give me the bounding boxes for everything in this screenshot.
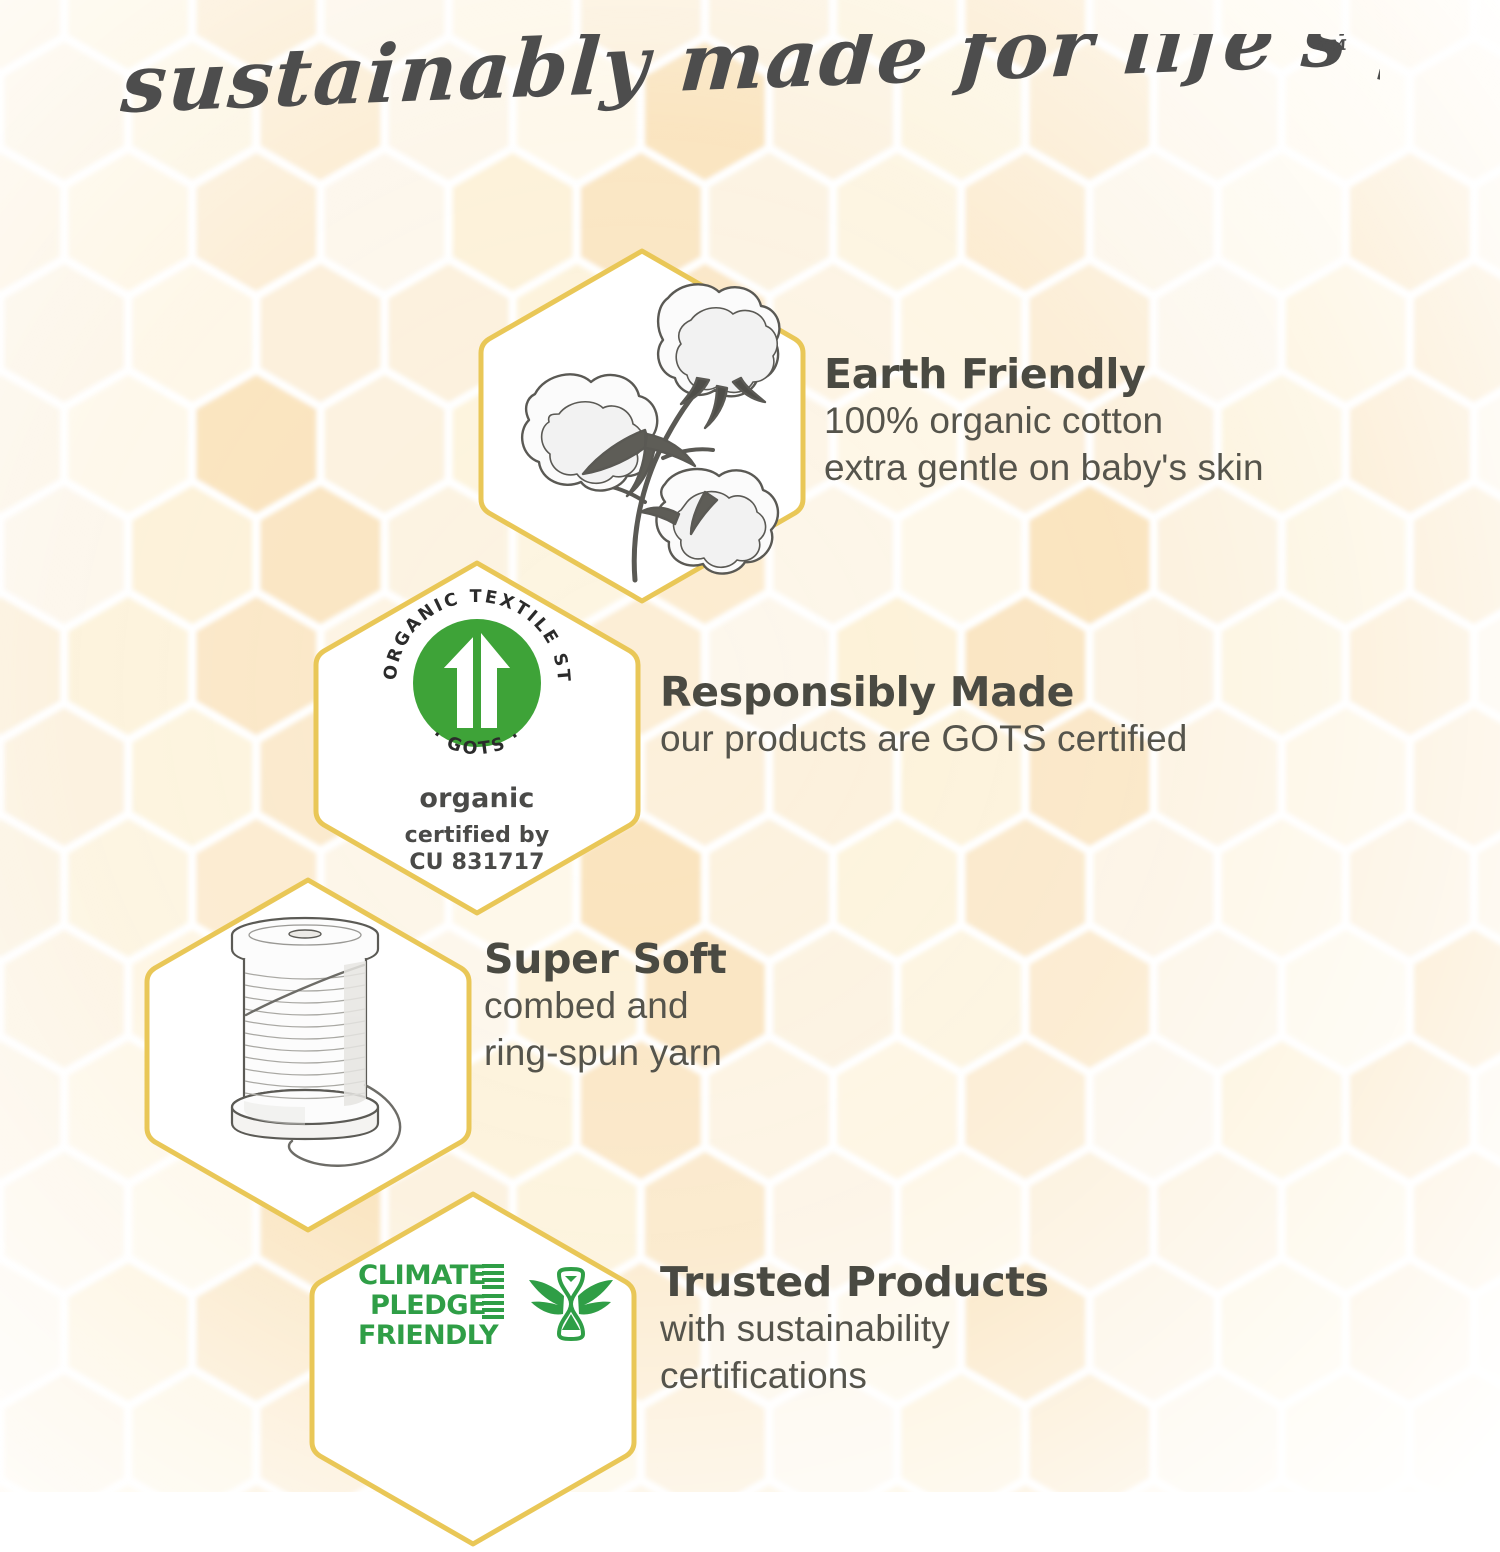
feature-text-earth-friendly: Earth Friendly 100% organic cotton extra… (824, 350, 1264, 492)
feature-text-responsibly-made: Responsibly Made our products are GOTS c… (660, 668, 1187, 763)
feature-heading: Super Soft (484, 935, 727, 983)
feature-list: Earth Friendly 100% organic cotton extra… (0, 0, 1500, 1492)
gots-seal-icon: GLOBAL ORGANIC TEXTILE STANDARD · GOTS · (372, 578, 582, 788)
hexagon-frame-trusted-products (308, 1186, 638, 1552)
gots-certified-by-label: certified by (352, 822, 602, 849)
feature-line: extra gentle on baby's skin (824, 445, 1264, 492)
winged-hourglass-icon (528, 1266, 614, 1342)
tagline: sustainably made for life's greatest joy… (0, 34, 1500, 147)
tagline-label: sustainably made for life's greatest joy (120, 34, 1380, 131)
feature-line: combed and (484, 983, 727, 1030)
feature-heading: Trusted Products (660, 1258, 1049, 1306)
feature-line: our products are GOTS certified (660, 716, 1187, 763)
trademark-symbol: ™ (1312, 34, 1353, 77)
svg-text:CLIMATE: CLIMATE (358, 1260, 486, 1291)
tagline-script-text: sustainably made for life's greatest joy… (120, 34, 1380, 142)
feature-text-super-soft: Super Soft combed and ring-spun yarn (484, 935, 727, 1077)
gots-badge: GLOBAL ORGANIC TEXTILE STANDARD · GOTS ·… (352, 578, 602, 853)
feature-text-trusted-products: Trusted Products with sustainability cer… (660, 1258, 1049, 1400)
cpf-wordmark: CLIMATE PLEDGE FRIENDLY (358, 1258, 508, 1350)
svg-text:PLEDGE: PLEDGE (370, 1290, 486, 1321)
feature-line: 100% organic cotton (824, 398, 1264, 445)
gots-organic-label: organic (352, 783, 602, 814)
svg-text:FRIENDLY: FRIENDLY (358, 1320, 499, 1350)
thread-spool-icon (168, 885, 451, 1197)
climate-pledge-friendly-logo: CLIMATE PLEDGE FRIENDLY (358, 1258, 593, 1358)
feature-line: certifications (660, 1353, 1049, 1400)
feature-line: with sustainability (660, 1306, 1049, 1353)
cotton-boll-icon (495, 262, 795, 592)
feature-heading: Responsibly Made (660, 668, 1187, 716)
feature-line: ring-spun yarn (484, 1030, 727, 1077)
feature-heading: Earth Friendly (824, 350, 1264, 398)
